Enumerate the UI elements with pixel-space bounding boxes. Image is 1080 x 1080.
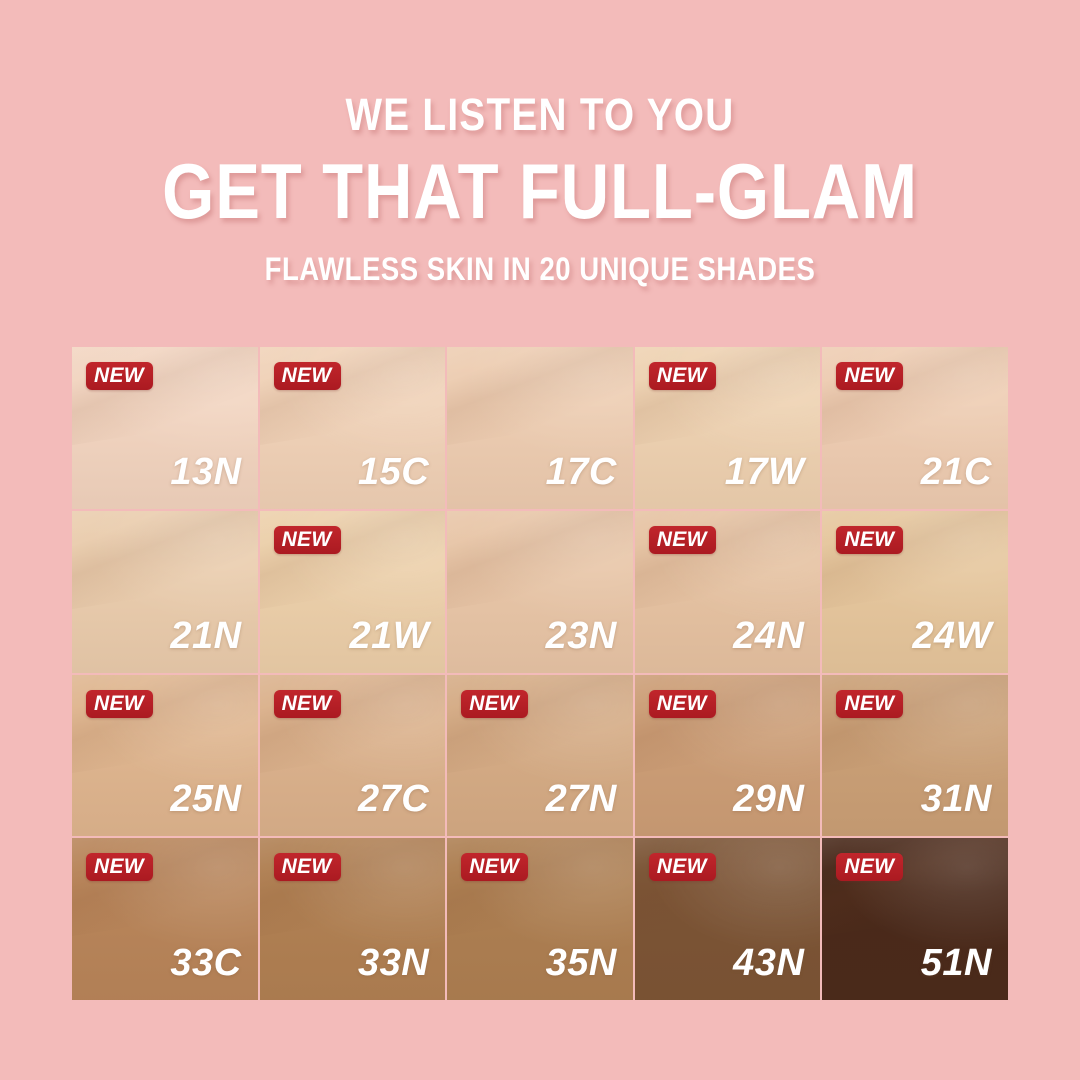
shade-code-label: 27N: [546, 780, 617, 818]
shade-swatch[interactable]: NEW43N: [635, 838, 821, 1000]
shade-swatch[interactable]: NEW17W: [635, 347, 821, 509]
shade-swatch[interactable]: NEW51N: [822, 838, 1008, 1000]
shade-code-label: 27C: [358, 780, 429, 818]
shade-code-label: 17W: [725, 453, 805, 491]
shade-swatch[interactable]: NEW27C: [260, 675, 446, 837]
new-badge: NEW: [649, 853, 716, 881]
new-badge: NEW: [86, 690, 153, 718]
shade-swatch[interactable]: NEW31N: [822, 675, 1008, 837]
shade-code-label: 24N: [733, 617, 804, 655]
shade-swatch[interactable]: NEW27N: [447, 675, 633, 837]
shade-code-label: 15C: [358, 453, 429, 491]
new-badge: NEW: [274, 690, 341, 718]
shade-swatch[interactable]: NEW21W: [260, 511, 446, 673]
new-badge: NEW: [86, 362, 153, 390]
shade-swatch[interactable]: NEW24N: [635, 511, 821, 673]
new-badge: NEW: [836, 690, 903, 718]
shade-swatch[interactable]: NEW13N: [72, 347, 258, 509]
shade-code-label: 21N: [170, 617, 241, 655]
page-subtitle: FLAWLESS SKIN IN 20 UNIQUE SHADES: [76, 253, 1005, 285]
shade-code-label: 13N: [170, 453, 241, 491]
shade-code-label: 33N: [358, 944, 429, 982]
shade-swatch-grid: NEW13NNEW15CNEW17CNEW17WNEW21CNEW21NNEW2…: [72, 347, 1008, 1000]
new-badge: NEW: [836, 362, 903, 390]
shade-code-label: 51N: [921, 944, 992, 982]
shade-code-label: 29N: [733, 780, 804, 818]
shade-code-label: 24W: [912, 617, 992, 655]
shade-code-label: 25N: [170, 780, 241, 818]
shade-swatch[interactable]: NEW29N: [635, 675, 821, 837]
new-badge: NEW: [274, 362, 341, 390]
shade-swatch[interactable]: NEW24W: [822, 511, 1008, 673]
shade-code-label: 31N: [921, 780, 992, 818]
page-eyebrow-text: WE LISTEN TO YOU: [76, 92, 1005, 137]
new-badge: NEW: [649, 690, 716, 718]
shade-swatch[interactable]: NEW25N: [72, 675, 258, 837]
new-badge: NEW: [86, 853, 153, 881]
shade-swatch[interactable]: NEW15C: [260, 347, 446, 509]
shade-code-label: 21C: [921, 453, 992, 491]
shade-code-label: 33C: [170, 944, 241, 982]
new-badge: NEW: [649, 526, 716, 554]
shade-code-label: 17C: [546, 453, 617, 491]
shade-code-label: 43N: [733, 944, 804, 982]
shade-swatch[interactable]: NEW33C: [72, 838, 258, 1000]
new-badge: NEW: [836, 526, 903, 554]
new-badge: NEW: [274, 853, 341, 881]
page-title: GET THAT FULL-GLAM: [76, 152, 1005, 230]
shade-code-label: 21W: [350, 617, 430, 655]
new-badge: NEW: [274, 526, 341, 554]
new-badge: NEW: [836, 853, 903, 881]
shade-swatch[interactable]: NEW23N: [447, 511, 633, 673]
new-badge: NEW: [461, 853, 528, 881]
shade-swatch[interactable]: NEW21C: [822, 347, 1008, 509]
shade-swatch[interactable]: NEW35N: [447, 838, 633, 1000]
shade-code-label: 23N: [546, 617, 617, 655]
shade-code-label: 35N: [546, 944, 617, 982]
new-badge: NEW: [461, 690, 528, 718]
new-badge: NEW: [649, 362, 716, 390]
shade-swatch[interactable]: NEW33N: [260, 838, 446, 1000]
shade-swatch[interactable]: NEW17C: [447, 347, 633, 509]
shade-swatch[interactable]: NEW21N: [72, 511, 258, 673]
